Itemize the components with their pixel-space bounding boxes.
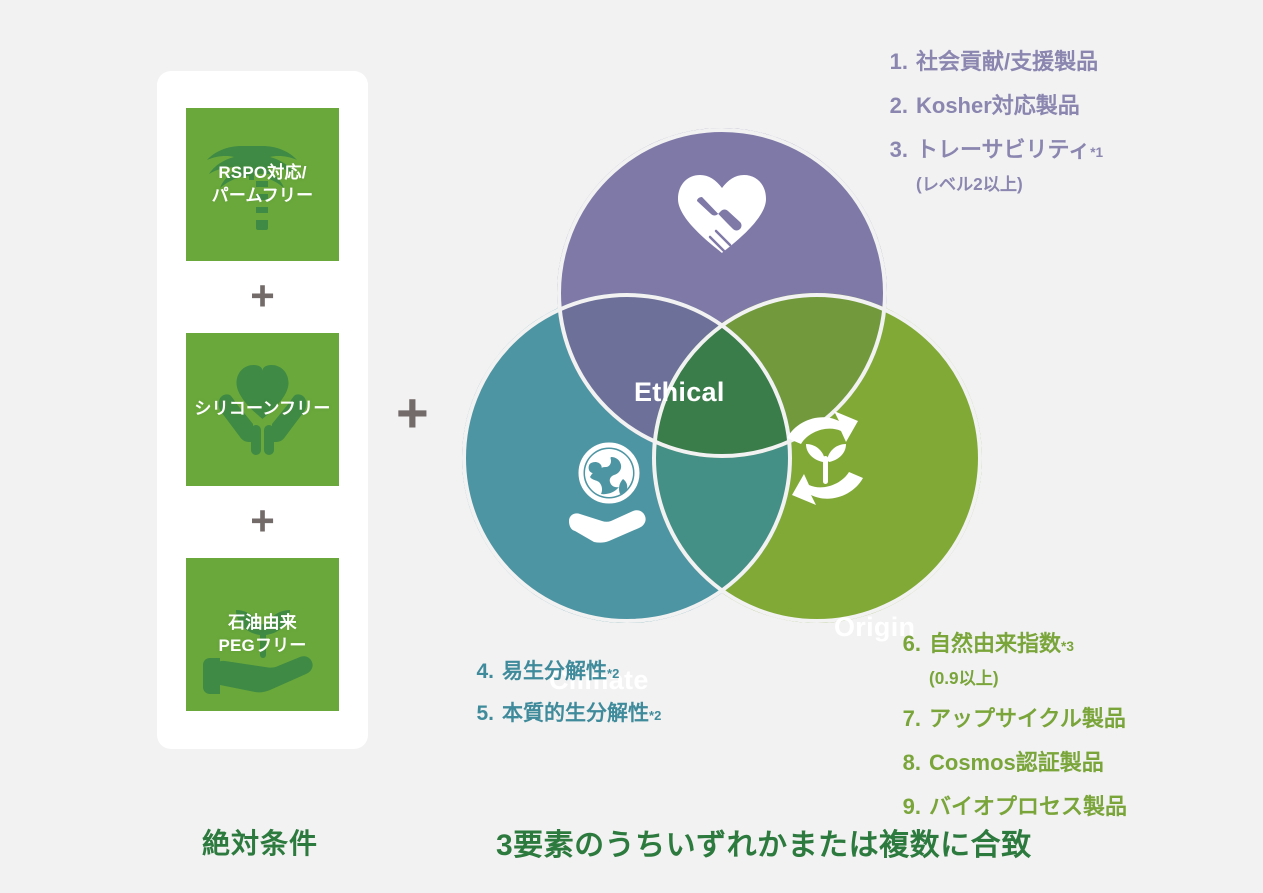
list-item-label: 易生分解性 — [502, 655, 607, 685]
condition-tile-rspo: RSPO対応/ パームフリー — [186, 108, 339, 261]
list-item-footnote-marker: *2 — [649, 708, 661, 723]
list-item: 9. バイオプロセス製品 — [893, 789, 1127, 821]
condition-tile-silicone-free: シリコーンフリー — [186, 333, 339, 486]
list-item-number: 2. — [880, 93, 908, 119]
list-item-footnote-marker: *3 — [1061, 639, 1074, 654]
list-item-label: Kosher対応製品 — [916, 88, 1080, 120]
ethical-criteria-list: 1. 社会貢献/支援製品 2. Kosher対応製品 3. トレーサビリティ*1… — [880, 44, 1103, 195]
origin-criteria-list: 6. 自然由来指数*3 (0.9以上) 7. アップサイクル製品 8. Cosm… — [893, 626, 1127, 833]
tile-label-line2: PEGフリー — [218, 636, 306, 655]
plus-separator-1: + — [157, 275, 368, 317]
list-item-note: (0.9以上) — [929, 664, 1127, 689]
list-item: 7. アップサイクル製品 — [893, 701, 1127, 733]
list-item-number: 7. — [893, 706, 921, 732]
infographic-canvas: RSPO対応/ パームフリー + シリコーンフリー + — [0, 0, 1263, 893]
list-item-footnote-marker: *2 — [607, 666, 619, 681]
caption-absolute-conditions: 絶対条件 — [202, 822, 318, 862]
list-item-label: トレーサビリティ — [916, 132, 1090, 164]
list-item-number: 4. — [468, 660, 494, 684]
tile-label-line1: 石油由来 — [228, 613, 297, 632]
list-item: 8. Cosmos認証製品 — [893, 745, 1127, 777]
list-item-number: 6. — [893, 631, 921, 657]
condition-tile-label: シリコーンフリー — [194, 398, 330, 421]
tile-label-line1: シリコーンフリー — [194, 399, 330, 418]
venn-label-ethical: Ethical — [634, 377, 725, 408]
climate-criteria-list: 4. 易生分解性*2 5. 本質的生分解性*2 — [468, 655, 661, 739]
list-item: 2. Kosher対応製品 — [880, 88, 1103, 120]
condition-tile-peg-free: 石油由来 PEGフリー — [186, 558, 339, 711]
plus-separator-2: + — [157, 500, 368, 542]
list-item: 4. 易生分解性*2 — [468, 655, 661, 685]
absolute-conditions-card: RSPO対応/ パームフリー + シリコーンフリー + — [157, 71, 368, 749]
list-item: 3. トレーサビリティ*1 — [880, 132, 1103, 164]
list-item: 5. 本質的生分解性*2 — [468, 697, 661, 727]
list-item-label: Cosmos認証製品 — [929, 745, 1104, 777]
list-item-number: 9. — [893, 794, 921, 820]
tile-label-line2: パームフリー — [212, 186, 314, 205]
list-item-footnote-marker: *1 — [1090, 145, 1103, 160]
list-item: 6. 自然由来指数*3 — [893, 626, 1127, 658]
venn-diagram: Ethical Climate Origin — [462, 128, 982, 653]
caption-three-elements: 3要素のうちいずれかまたは複数に合致 — [496, 820, 1032, 864]
list-item: 1. 社会貢献/支援製品 — [880, 44, 1103, 76]
list-item-label: バイオプロセス製品 — [929, 789, 1127, 821]
condition-tile-label: RSPO対応/ パームフリー — [212, 162, 314, 208]
list-item-number: 5. — [468, 702, 494, 726]
list-item-number: 3. — [880, 137, 908, 163]
list-item-note: (レベル2以上) — [916, 170, 1103, 195]
list-item-number: 8. — [893, 750, 921, 776]
tile-label-line1: RSPO対応/ — [218, 163, 306, 182]
list-item-label: 自然由来指数 — [929, 626, 1061, 658]
list-item-label: アップサイクル製品 — [929, 701, 1126, 733]
list-item-label: 本質的生分解性 — [502, 697, 649, 727]
list-item-label: 社会貢献/支援製品 — [916, 44, 1098, 76]
join-plus-operator: + — [396, 385, 429, 441]
list-item-number: 1. — [880, 49, 908, 75]
condition-tile-label: 石油由来 PEGフリー — [218, 612, 306, 658]
